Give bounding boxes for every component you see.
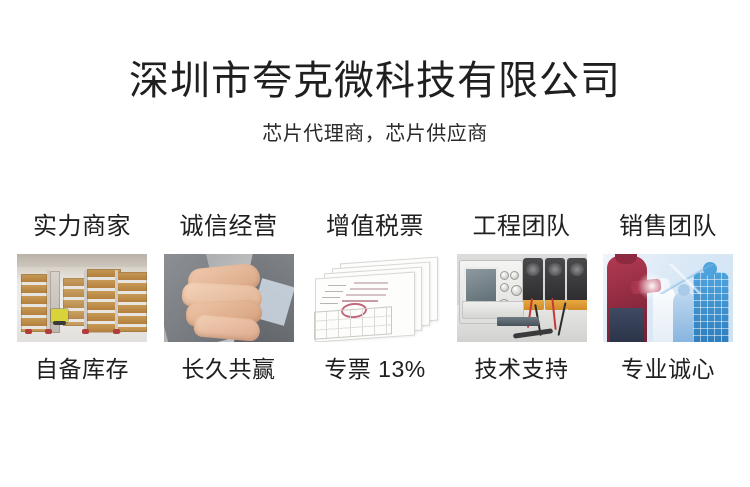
card-caption: 自备库存 xyxy=(35,355,129,384)
invoice-text-line xyxy=(342,300,378,302)
card-caption: 技术支持 xyxy=(475,355,569,384)
businessman-trousers xyxy=(610,308,644,342)
card-title: 销售团队 xyxy=(619,212,717,242)
invoice-field-label xyxy=(322,297,340,298)
stacked-hands-teamwork-photo xyxy=(164,254,294,342)
warehouse-ceiling xyxy=(17,254,147,267)
forklift-icon xyxy=(51,309,68,322)
vat-invoice-stack-photo xyxy=(310,254,440,342)
shelf-rack xyxy=(117,272,147,332)
rack-post xyxy=(115,270,118,334)
feature-card-row: 实力商家 自备库存 诚信经营 xyxy=(0,212,750,384)
card-title: 增值税票 xyxy=(326,212,424,242)
card-title: 工程团队 xyxy=(473,212,571,242)
oscilloscope-screen xyxy=(464,267,498,305)
invoice-table-grid xyxy=(314,306,392,339)
multimeter xyxy=(545,258,565,302)
card-caption: 专票 13% xyxy=(324,355,425,384)
rack-foot xyxy=(82,329,89,334)
feature-card-vat-invoice: 增值税票 专票 13% xyxy=(307,212,443,384)
rack-foot xyxy=(45,329,52,334)
knob xyxy=(500,271,509,280)
card-caption: 长久共赢 xyxy=(182,355,276,384)
invoice-field-label xyxy=(325,291,343,292)
multimeter-stand xyxy=(567,300,587,310)
oscilloscope-multimeter-photo xyxy=(457,254,587,342)
knob xyxy=(511,285,522,296)
page-subtitle: 芯片代理商，芯片供应商 xyxy=(0,104,750,146)
card-title: 诚信经营 xyxy=(180,212,278,242)
knob xyxy=(500,283,509,292)
invoice-field-label xyxy=(328,285,346,286)
card-title: 实力商家 xyxy=(33,212,131,242)
circuit-board xyxy=(497,317,539,326)
feature-card-sales: 销售团队 专业诚心 xyxy=(600,212,736,384)
page-title: 深圳市夸克微科技有限公司 xyxy=(0,0,750,104)
warehouse-shelves-photo xyxy=(17,254,147,342)
invoice-text-line xyxy=(350,288,388,290)
invoice-field-label xyxy=(320,303,338,304)
shelf-rack xyxy=(21,274,47,332)
rack-post xyxy=(84,270,87,334)
oscilloscope xyxy=(459,260,523,324)
feature-card-engineering: 工程团队 xyxy=(454,212,590,384)
knob xyxy=(510,271,519,280)
silhouette-figure xyxy=(673,292,695,342)
rack-foot xyxy=(113,329,120,334)
sales-team-silhouettes-photo xyxy=(603,254,733,342)
multimeter xyxy=(567,258,587,302)
multimeter xyxy=(523,258,543,302)
rack-foot xyxy=(25,329,32,334)
feature-card-integrity: 诚信经营 长久共赢 xyxy=(161,212,297,384)
invoice-text-line xyxy=(354,282,388,284)
rack-post xyxy=(47,270,50,334)
connection-lines xyxy=(659,264,715,294)
banner-header: 深圳市夸克微科技有限公司 芯片代理商，芯片供应商 xyxy=(0,0,750,146)
feature-card-strength: 实力商家 自备库存 xyxy=(14,212,150,384)
invoice-text-line xyxy=(346,294,386,296)
card-caption: 专业诚心 xyxy=(621,355,715,384)
promo-banner: 深圳市夸克微科技有限公司 芯片代理商，芯片供应商 实力商家 xyxy=(0,0,750,487)
